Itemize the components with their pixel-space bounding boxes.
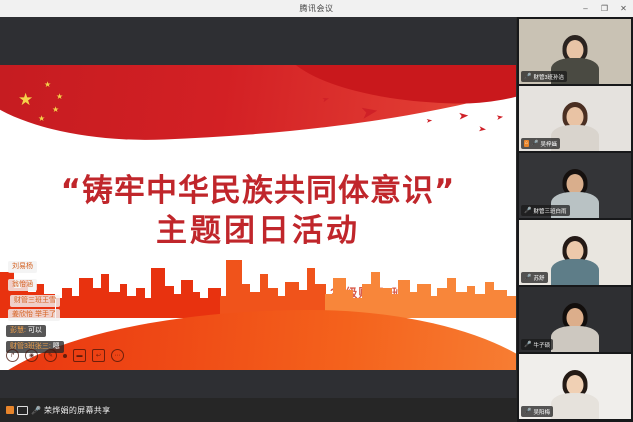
participant-name-bar: 🎤苏舒 xyxy=(521,272,548,283)
chat-message: 姜欣怡 举手了 xyxy=(8,309,60,321)
chat-message: 刘易杨 xyxy=(8,261,37,273)
tencent-meeting-window: 腾讯会议 – ❐ ✕ ★ ★ ★ ★ ★ ➤ ➤ ➤ ➤ xyxy=(0,0,633,422)
chat-message-sender: 彭慧: xyxy=(10,327,28,334)
chat-message: 财管三班王雪 xyxy=(10,295,60,307)
participant-tile[interactable]: 🎤苏舒 xyxy=(519,220,631,285)
skyline-building xyxy=(226,260,242,318)
participant-name: 吴阳梅 xyxy=(533,408,550,416)
participant-name-bar: 🎤牛子硕 xyxy=(521,339,553,350)
participant-tile[interactable]: 🎤吴阳梅 xyxy=(519,354,631,419)
shared-screen-stage[interactable]: ★ ★ ★ ★ ★ ➤ ➤ ➤ ➤ ➤ ➤ “铸牢中华民族共同体意识” 主题团日… xyxy=(0,17,516,398)
participant-avatar xyxy=(547,367,603,419)
chat-message: 彭慧: 可以 xyxy=(6,325,46,337)
title-bar: 腾讯会议 – ❐ ✕ xyxy=(0,0,633,17)
participant-tile[interactable]: ⌂🎤吴梓婳 xyxy=(519,86,631,151)
share-status-bar: 🎤 荣烨娟的屏幕共享 xyxy=(0,398,517,422)
share-status-text: 荣烨娟的屏幕共享 xyxy=(44,405,110,416)
participant-name-bar: 🎤财管3班孙洁 xyxy=(521,71,567,82)
maximize-button[interactable]: ❐ xyxy=(595,0,614,17)
flying-birds-group: ➤ ➤ ➤ ➤ ➤ ➤ xyxy=(300,83,515,143)
bird-icon-1: ➤ xyxy=(321,95,330,104)
flag-star-small-4: ★ xyxy=(38,115,45,123)
participant-tile[interactable]: 🎤牛子硕 xyxy=(519,287,631,352)
participant-name-bar: 🎤财管三班白雨 xyxy=(521,205,570,216)
participant-name: 吴梓婳 xyxy=(541,140,558,148)
microphone-muted-icon: 🎤 xyxy=(524,207,531,214)
window-title: 腾讯会议 xyxy=(300,3,334,14)
skyline-building xyxy=(506,296,516,318)
window-controls: – ❐ ✕ xyxy=(576,0,633,17)
flag-star-small-3: ★ xyxy=(52,106,59,114)
slide-subtitle: 主题团日活动 xyxy=(0,205,516,250)
skyline-building xyxy=(493,290,507,318)
participant-name: 牛子硕 xyxy=(533,341,550,349)
monitor-icon xyxy=(17,406,28,415)
participant-name: 财管三班白雨 xyxy=(533,207,566,215)
microphone-muted-icon: 🎤 xyxy=(524,341,531,348)
participant-name-bar: 🎤吴阳梅 xyxy=(521,406,553,417)
host-badge-icon: ⌂ xyxy=(524,140,529,147)
chat-message-text: 财管三班王雪 xyxy=(14,297,56,304)
avatar-head xyxy=(567,375,584,395)
share-status-pill: 🎤 荣烨娟的屏幕共享 xyxy=(0,398,116,422)
avatar-body xyxy=(551,326,599,352)
participant-name-bar: ⌂🎤吴梓婳 xyxy=(521,138,560,149)
chat-message-text: 可以 xyxy=(28,327,42,334)
avatar-body xyxy=(551,259,599,285)
avatar-head xyxy=(567,107,584,127)
presentation-slide: ★ ★ ★ ★ ★ ➤ ➤ ➤ ➤ ➤ ➤ “铸牢中华民族共同体意识” 主题团日… xyxy=(0,65,516,370)
slide-title: “铸牢中华民族共同体意识” xyxy=(0,165,516,210)
microphone-muted-icon: 🎤 xyxy=(524,73,531,80)
avatar-body xyxy=(551,393,599,419)
microphone-muted-icon: 🎤 xyxy=(524,408,531,415)
flag-star-small-2: ★ xyxy=(56,93,63,101)
eraser-icon[interactable]: ▬ xyxy=(73,349,86,362)
skyline-building xyxy=(151,268,165,318)
microphone-icon: 🎤 xyxy=(31,406,41,415)
minimize-button[interactable]: – xyxy=(576,0,595,17)
participant-tile[interactable]: 🎤财管三班白雨 xyxy=(519,153,631,218)
participant-avatar xyxy=(547,300,603,352)
chat-message-text: 刘易杨 xyxy=(12,263,33,270)
select-icon[interactable]: ↱ xyxy=(6,349,19,362)
avatar-head xyxy=(567,241,584,261)
participant-tile[interactable]: 🎤财管3班孙洁 xyxy=(519,19,631,84)
bird-icon-3: ➤ xyxy=(426,118,433,125)
avatar-head xyxy=(567,174,584,194)
bird-icon-2: ➤ xyxy=(359,102,380,123)
annotation-toolbar[interactable]: ↱◉✎▬↩⋯ xyxy=(6,347,132,364)
participant-avatar xyxy=(547,233,603,285)
undo-icon[interactable]: ↩ xyxy=(92,349,105,362)
bird-icon-4: ➤ xyxy=(458,110,470,121)
avatar-head xyxy=(567,40,584,60)
chat-message-text: 姜欣怡 举手了 xyxy=(12,311,56,318)
pen-icon[interactable]: ✎ xyxy=(44,349,57,362)
more-icon[interactable]: ⋯ xyxy=(111,349,124,362)
bird-icon-5: ➤ xyxy=(478,126,487,135)
skyline-building xyxy=(79,278,93,318)
participant-name: 财管3班孙洁 xyxy=(533,73,564,81)
skyline-building xyxy=(101,274,109,318)
participant-filmstrip[interactable]: 🎤财管3班孙洁⌂🎤吴梓婳🎤财管三班白雨🎤苏舒🎤牛子硕🎤吴阳梅 xyxy=(517,17,633,422)
bird-icon-6: ➤ xyxy=(496,113,504,121)
pointer-icon[interactable]: ◉ xyxy=(25,349,38,362)
host-icon xyxy=(6,406,14,414)
chat-message-text: 翁怡涵 xyxy=(12,281,33,288)
microphone-muted-icon: 🎤 xyxy=(531,140,538,147)
skyline-building xyxy=(417,284,431,318)
flag-star-large: ★ xyxy=(18,91,33,108)
close-button[interactable]: ✕ xyxy=(614,0,633,17)
dot-icon[interactable] xyxy=(63,354,67,358)
participant-name: 苏舒 xyxy=(533,274,544,282)
chat-message: 翁怡涵 xyxy=(8,279,37,291)
avatar-head xyxy=(567,308,584,328)
flag-star-small-1: ★ xyxy=(44,81,51,89)
microphone-muted-icon: 🎤 xyxy=(524,274,531,281)
